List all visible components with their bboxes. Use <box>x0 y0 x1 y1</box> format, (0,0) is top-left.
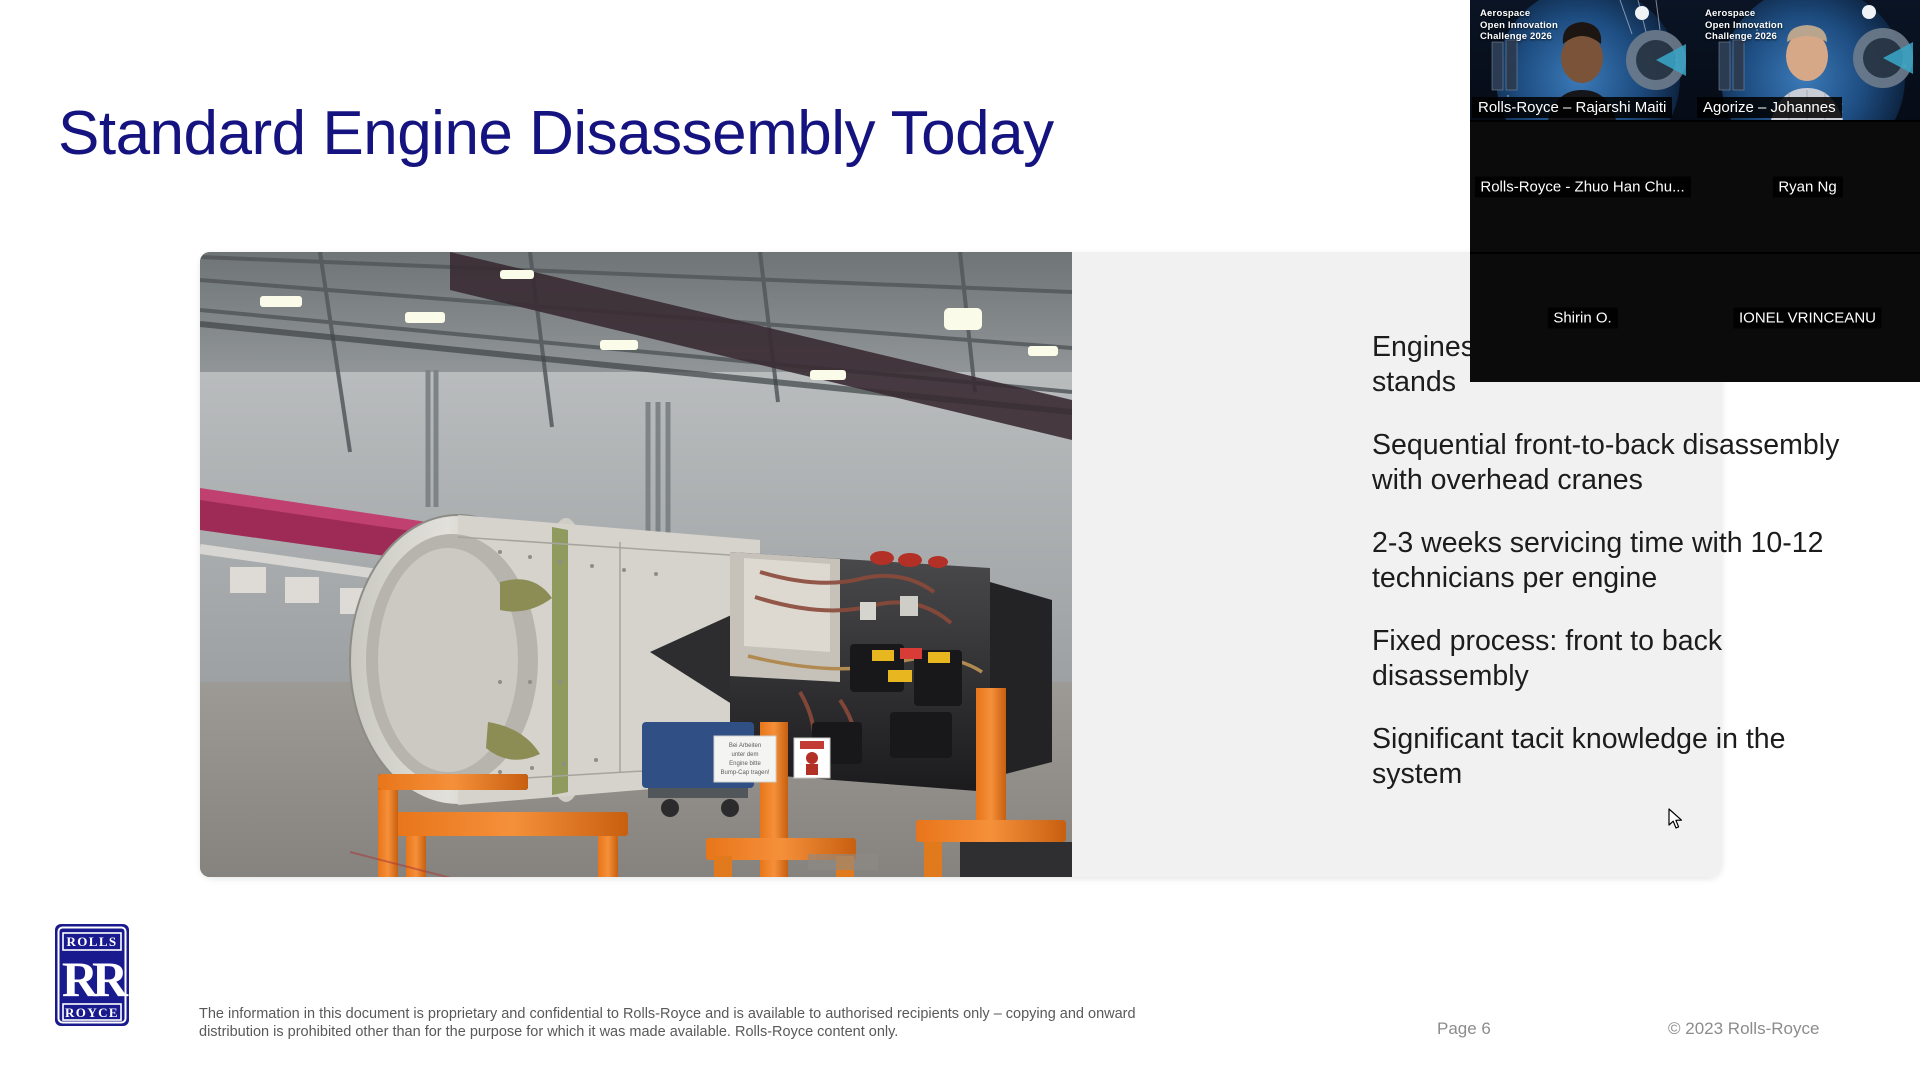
bullet-item: Sequential front-to-back disassembly wit… <box>1372 428 1882 498</box>
svg-text:Engine bitte: Engine bitte <box>729 761 761 767</box>
participant-tile[interactable]: Rolls-Royce - Zhuo Han Chu... <box>1470 122 1695 252</box>
mouse-cursor <box>1668 808 1684 830</box>
copyright-notice: © 2023 Rolls-Royce <box>1668 1019 1819 1039</box>
svg-text:Bump-Cap tragen!: Bump-Cap tragen! <box>720 770 769 776</box>
footer-disclaimer: The information in this document is prop… <box>199 1005 1139 1041</box>
bullet-item: Fixed process: front to back disassembly <box>1372 624 1882 694</box>
participant-name: IONEL VRINCEANU <box>1733 308 1882 329</box>
participant-name: Rolls-Royce – Rajarshi Maiti <box>1472 97 1672 118</box>
svg-text:ROLLS: ROLLS <box>66 934 117 949</box>
bullet-item: 2-3 weeks servicing time with 10-12 tech… <box>1372 526 1882 596</box>
page-number: Page 6 <box>1437 1019 1491 1039</box>
participant-name: Rolls-Royce - Zhuo Han Chu... <box>1474 177 1690 198</box>
bullet-item: Significant tacit knowledge in the syste… <box>1372 722 1882 792</box>
svg-text:unter dem: unter dem <box>731 752 758 758</box>
participant-name: Agorize – Johannes <box>1697 97 1842 118</box>
svg-text:Bei Arbeiten: Bei Arbeiten <box>729 743 761 749</box>
video-row: AerospaceOpen InnovationChallenge 2026 R… <box>1470 0 1920 120</box>
participant-tile[interactable]: IONEL VRINCEANU <box>1695 254 1920 382</box>
presentation-slide: Standard Engine Disassembly Today <box>0 0 1920 1080</box>
participant-name: Ryan Ng <box>1772 177 1842 198</box>
participant-tile[interactable]: Ryan Ng <box>1695 122 1920 252</box>
participant-name: Shirin O. <box>1547 308 1617 329</box>
participant-tile[interactable]: AerospaceOpen InnovationChallenge 2026 R… <box>1470 0 1695 120</box>
rolls-royce-logo: ROLLS ROYCE RR <box>55 924 129 1026</box>
bullet-list: Engines rotated 90° and placed on fixed … <box>1372 330 1882 820</box>
participant-tile[interactable]: Shirin O. <box>1470 254 1695 382</box>
video-row: Shirin O. IONEL VRINCEANU <box>1470 254 1920 382</box>
video-conference-overlay[interactable]: AerospaceOpen InnovationChallenge 2026 R… <box>1470 0 1920 382</box>
engine-disassembly-photo: Bei Arbeiten unter dem Engine bitte Bump… <box>200 252 1072 877</box>
svg-text:RR: RR <box>62 951 129 1007</box>
page-title: Standard Engine Disassembly Today <box>58 98 1054 169</box>
svg-text:ROYCE: ROYCE <box>65 1005 119 1020</box>
video-row: Rolls-Royce - Zhuo Han Chu... Ryan Ng <box>1470 122 1920 252</box>
challenge-caption: AerospaceOpen InnovationChallenge 2026 <box>1480 8 1558 43</box>
challenge-caption: AerospaceOpen InnovationChallenge 2026 <box>1705 8 1783 43</box>
participant-tile[interactable]: AerospaceOpen InnovationChallenge 2026 A… <box>1695 0 1920 120</box>
